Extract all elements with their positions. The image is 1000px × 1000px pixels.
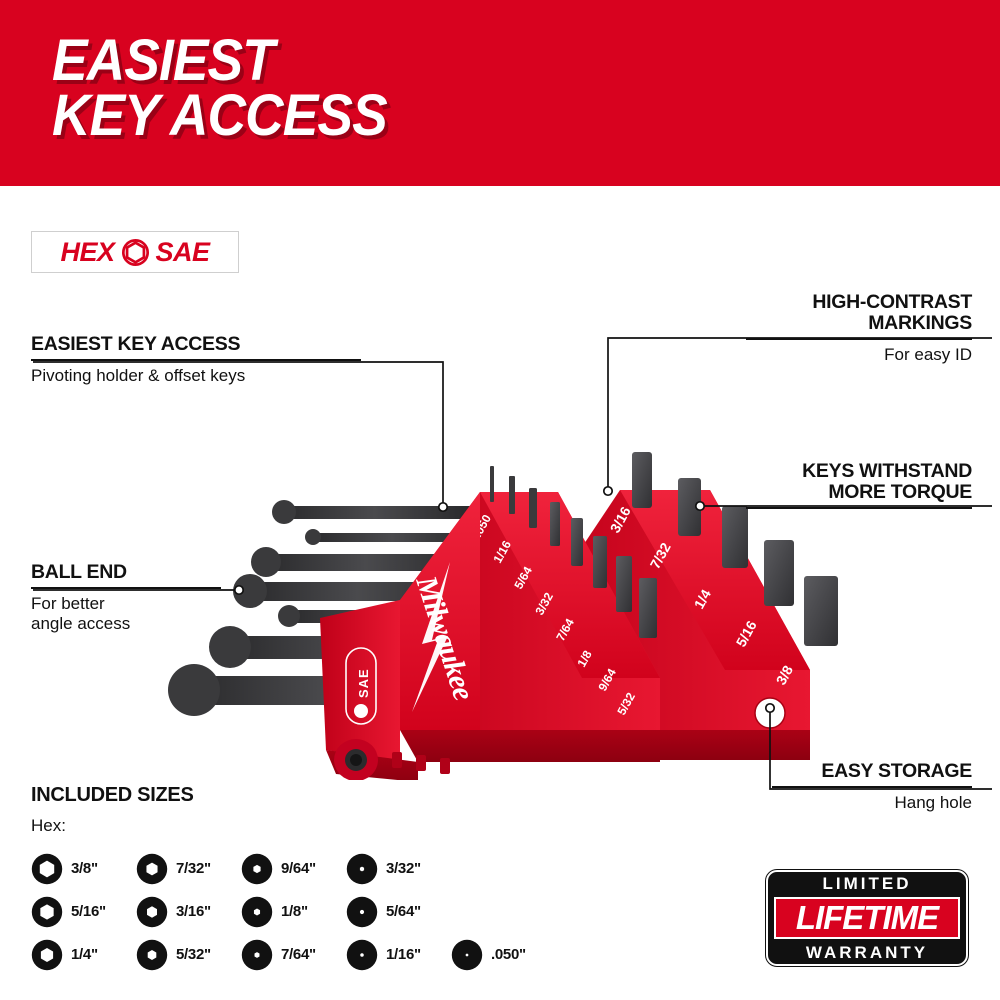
callout-subtitle: Hang hole xyxy=(772,793,972,813)
callout-subtitle-line-1: For better xyxy=(31,594,221,614)
callout-title-line-2: MORE TORQUE xyxy=(746,482,972,503)
size-label: 3/8" xyxy=(71,860,98,877)
callout-easiest-key-access: EASIEST KEY ACCESS Pivoting holder & off… xyxy=(31,334,361,386)
included-sizes-subtitle: Hex: xyxy=(31,816,591,836)
size-item: 5/16" xyxy=(31,896,136,928)
size-label: 7/32" xyxy=(176,860,211,877)
hex-size-icon xyxy=(241,939,273,971)
size-item: 7/32" xyxy=(136,853,241,885)
size-item: 3/32" xyxy=(346,853,451,885)
size-item: 7/64" xyxy=(241,939,346,971)
callout-subtitle-line-2: angle access xyxy=(31,614,221,634)
hex-size-icon xyxy=(136,939,168,971)
callout-keys-withstand-more-torque: KEYS WITHSTAND MORE TORQUE xyxy=(746,461,972,514)
size-label: 1/16" xyxy=(386,946,421,963)
hex-size-icon xyxy=(451,939,483,971)
hex-size-icon xyxy=(346,939,378,971)
callout-divider xyxy=(746,507,972,509)
hex-size-icon xyxy=(241,896,273,928)
size-label: 5/32" xyxy=(176,946,211,963)
included-sizes-section: INCLUDED SIZES Hex: 3/8"7/32"9/64"3/32"5… xyxy=(31,784,591,976)
sizes-row: 1/4"5/32"7/64"1/16".050" xyxy=(31,933,591,976)
callout-title: BALL END xyxy=(31,562,221,583)
callout-divider xyxy=(31,587,221,589)
size-label: 5/64" xyxy=(386,903,421,920)
warranty-top-text: LIMITED xyxy=(823,875,912,892)
size-label: 9/64" xyxy=(281,860,316,877)
callout-title-line-2: MARKINGS xyxy=(746,313,972,334)
callout-high-contrast-markings: HIGH-CONTRAST MARKINGS For easy ID xyxy=(746,292,972,365)
warranty-middle-text: LIFETIME xyxy=(774,897,960,939)
hex-size-icon xyxy=(136,896,168,928)
callout-title-line-1: KEYS WITHSTAND xyxy=(746,461,972,482)
callout-easy-storage: EASY STORAGE Hang hole xyxy=(772,761,972,813)
callout-divider xyxy=(772,786,972,788)
size-item: 3/16" xyxy=(136,896,241,928)
hex-size-icon xyxy=(346,853,378,885)
size-label: 5/16" xyxy=(71,903,106,920)
warranty-bottom-text: WARRANTY xyxy=(806,944,928,961)
hex-size-icon xyxy=(31,853,63,885)
hex-size-icon xyxy=(346,896,378,928)
included-sizes-grid: 3/8"7/32"9/64"3/32"5/16"3/16"1/8"5/64"1/… xyxy=(31,847,591,976)
callout-divider xyxy=(31,359,361,361)
size-label: 7/64" xyxy=(281,946,316,963)
hex-size-icon xyxy=(136,853,168,885)
callout-title: EASY STORAGE xyxy=(772,761,972,782)
size-item: 3/8" xyxy=(31,853,136,885)
size-label: .050" xyxy=(491,946,526,963)
callout-divider xyxy=(746,338,972,340)
size-item: 1/4" xyxy=(31,939,136,971)
lifetime-warranty-badge: LIMITED LIFETIME WARRANTY xyxy=(766,870,968,966)
size-label: 3/32" xyxy=(386,860,421,877)
size-item: 1/8" xyxy=(241,896,346,928)
hex-size-icon xyxy=(31,939,63,971)
sizes-row: 3/8"7/32"9/64"3/32" xyxy=(31,847,591,890)
size-label: 1/4" xyxy=(71,946,98,963)
size-item: 5/32" xyxy=(136,939,241,971)
sizes-row: 5/16"3/16"1/8"5/64" xyxy=(31,890,591,933)
hex-size-icon xyxy=(241,853,273,885)
hex-size-icon xyxy=(31,896,63,928)
size-item: 5/64" xyxy=(346,896,451,928)
size-label: 1/8" xyxy=(281,903,308,920)
callout-title-line-1: HIGH-CONTRAST xyxy=(746,292,972,313)
callout-title: EASIEST KEY ACCESS xyxy=(31,334,361,355)
callout-subtitle: For easy ID xyxy=(746,345,972,365)
size-item: 1/16" xyxy=(346,939,451,971)
size-item: .050" xyxy=(451,939,526,971)
callout-subtitle: Pivoting holder & offset keys xyxy=(31,366,361,386)
size-label: 3/16" xyxy=(176,903,211,920)
included-sizes-title: INCLUDED SIZES xyxy=(31,784,591,807)
callout-ball-end: BALL END For better angle access xyxy=(31,562,221,634)
size-item: 9/64" xyxy=(241,853,346,885)
